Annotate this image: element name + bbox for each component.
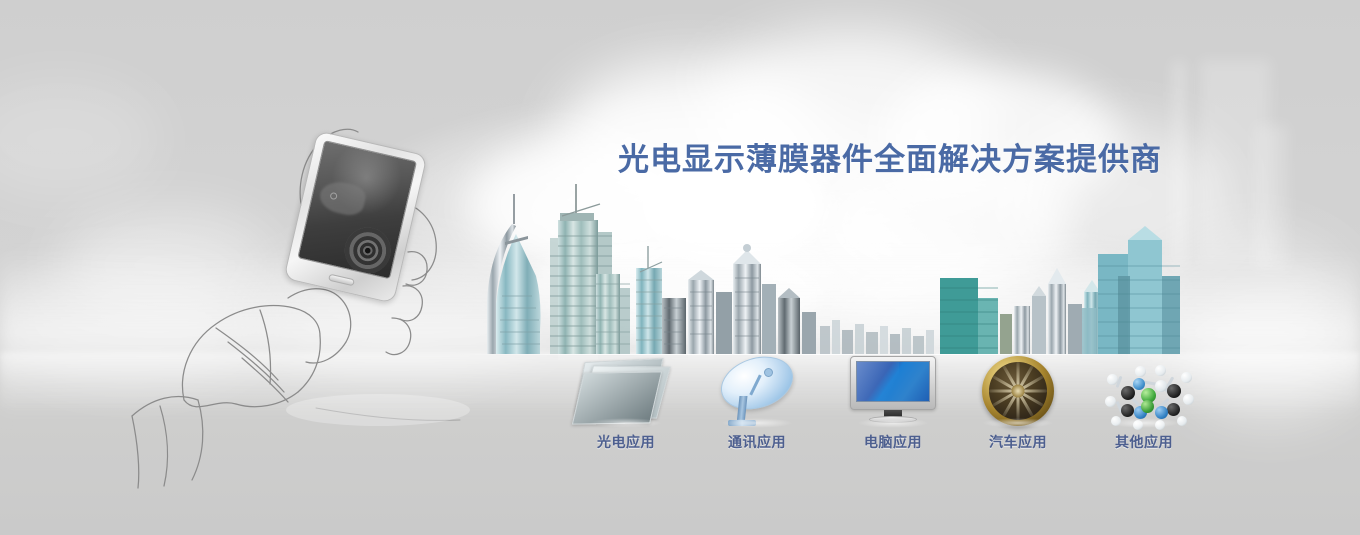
app-item-optoelectronic[interactable]: 光电应用: [566, 354, 686, 452]
application-icons-row: 光电应用 通讯应用: [0, 352, 1360, 462]
atom-nitrogen: [1133, 378, 1145, 390]
sail-tower: [487, 194, 541, 354]
icon-reflection: [721, 418, 793, 428]
promotional-banner: 光电显示薄膜器件全面解决方案提供商 光电应用: [0, 0, 1360, 535]
atom-carbon: [1121, 404, 1134, 417]
app-label: 其他应用: [1084, 432, 1204, 452]
wheel-face: [989, 362, 1047, 420]
page-title: 光电显示薄膜器件全面解决方案提供商: [618, 141, 1162, 179]
app-item-automotive[interactable]: 汽车应用: [958, 354, 1078, 452]
glass-film-panels-icon: [566, 354, 686, 426]
molecule-assembly: [1097, 356, 1191, 426]
monitor-bezel: [850, 356, 936, 410]
phone-screen: [297, 140, 417, 279]
icon-reflection: [982, 418, 1054, 428]
screen-ripple: [340, 223, 395, 278]
icon-reflection: [857, 418, 929, 428]
screen-glint: [857, 362, 899, 401]
monitor-screen: [856, 361, 930, 402]
atom-hydrogen: [1135, 366, 1146, 377]
app-label: 电脑应用: [833, 432, 953, 452]
atom-hydrogen: [1107, 374, 1118, 385]
wheel-hub: [1012, 385, 1025, 398]
icon-reflection: [1108, 418, 1180, 428]
phone-home-button: [328, 274, 355, 287]
car-wheel-rim-icon: [958, 354, 1078, 426]
atom-hydrogen: [1181, 372, 1192, 383]
app-label: 光电应用: [566, 432, 686, 452]
app-label: 通讯应用: [697, 432, 817, 452]
atom-hydrogen: [1155, 380, 1167, 392]
dish-assembly: [714, 356, 800, 426]
wheel-assembly: [982, 356, 1054, 426]
distant-blocks: [820, 320, 934, 354]
atom-hydrogen: [1183, 394, 1194, 405]
app-item-communication[interactable]: 通讯应用: [697, 354, 817, 452]
atom-metal-center: [1141, 400, 1154, 413]
atom-hydrogen: [1155, 365, 1166, 376]
atom-carbon: [1167, 403, 1180, 416]
atom-hydrogen: [1105, 396, 1116, 407]
app-label: 汽车应用: [958, 432, 1078, 452]
app-item-other[interactable]: 其他应用: [1084, 354, 1204, 452]
molecule-model-icon: [1084, 354, 1204, 426]
dish-lnb: [764, 368, 773, 377]
atom-carbon: [1121, 386, 1135, 400]
app-item-computer[interactable]: 电脑应用: [833, 354, 953, 452]
icon-reflection: [590, 418, 662, 428]
atom-carbon: [1167, 384, 1181, 398]
satellite-dish-icon: [697, 354, 817, 426]
atom-nitrogen: [1155, 406, 1168, 419]
screen-blob: [318, 178, 368, 218]
glass-pane: [572, 371, 662, 424]
computer-monitor-icon: [833, 354, 953, 426]
silver-cluster: [662, 244, 816, 354]
